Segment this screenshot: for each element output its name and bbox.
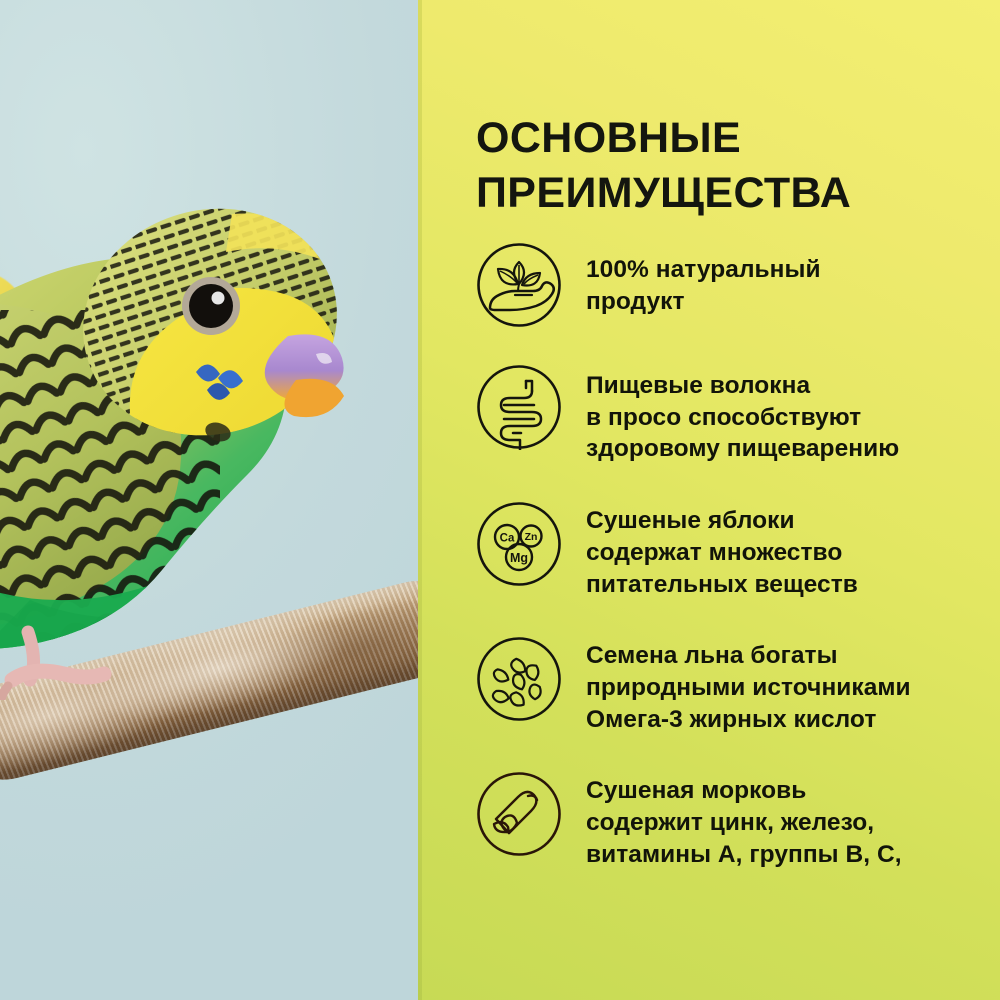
list-item: 100% натуральный продукт [476,242,988,328]
benefits-list: 100% натуральный продукт [476,242,988,871]
list-item: Семена льна богаты природными источникам… [476,636,988,735]
benefits-panel: ОСНОВНЫЕ ПРЕИМУЩЕСТВА [418,0,1000,1000]
list-item-label: Семена льна богаты природными источникам… [586,636,988,735]
product-photo-panel [0,0,418,1000]
list-item-label: 100% натуральный продукт [586,242,988,317]
list-item-label: Сушеные яблоки содержат множество питате… [586,501,988,600]
mineral-label-zn: Zn [525,531,538,543]
list-item-label: Сушеная морковь содержит цинк, железо, в… [586,771,988,870]
flax-seeds-icon [476,636,562,722]
mineral-label-mg: Mg [510,551,528,565]
hand-holding-plant-icon [476,242,562,328]
panel-left-edge [418,0,422,1000]
minerals-ca-zn-mg-icon: Ca Zn Mg [476,501,562,587]
list-item-label: Пищевые волокна в просо способствуют здо… [586,364,988,465]
product-benefits-banner: ОСНОВНЫЕ ПРЕИМУЩЕСТВА [0,0,1000,1000]
intestine-digestion-icon [476,364,562,450]
page-title: ОСНОВНЫЕ ПРЕИМУЩЕСТВА [476,111,976,221]
list-item: Ca Zn Mg Сушеные яблоки содержат множест… [476,501,988,600]
list-item: Сушеная морковь содержит цинк, железо, в… [476,771,988,870]
mineral-label-ca: Ca [500,533,515,545]
budgerigar-parrot [0,140,418,700]
carrot-icon [476,771,562,857]
list-item: Пищевые волокна в просо способствуют здо… [476,364,988,465]
